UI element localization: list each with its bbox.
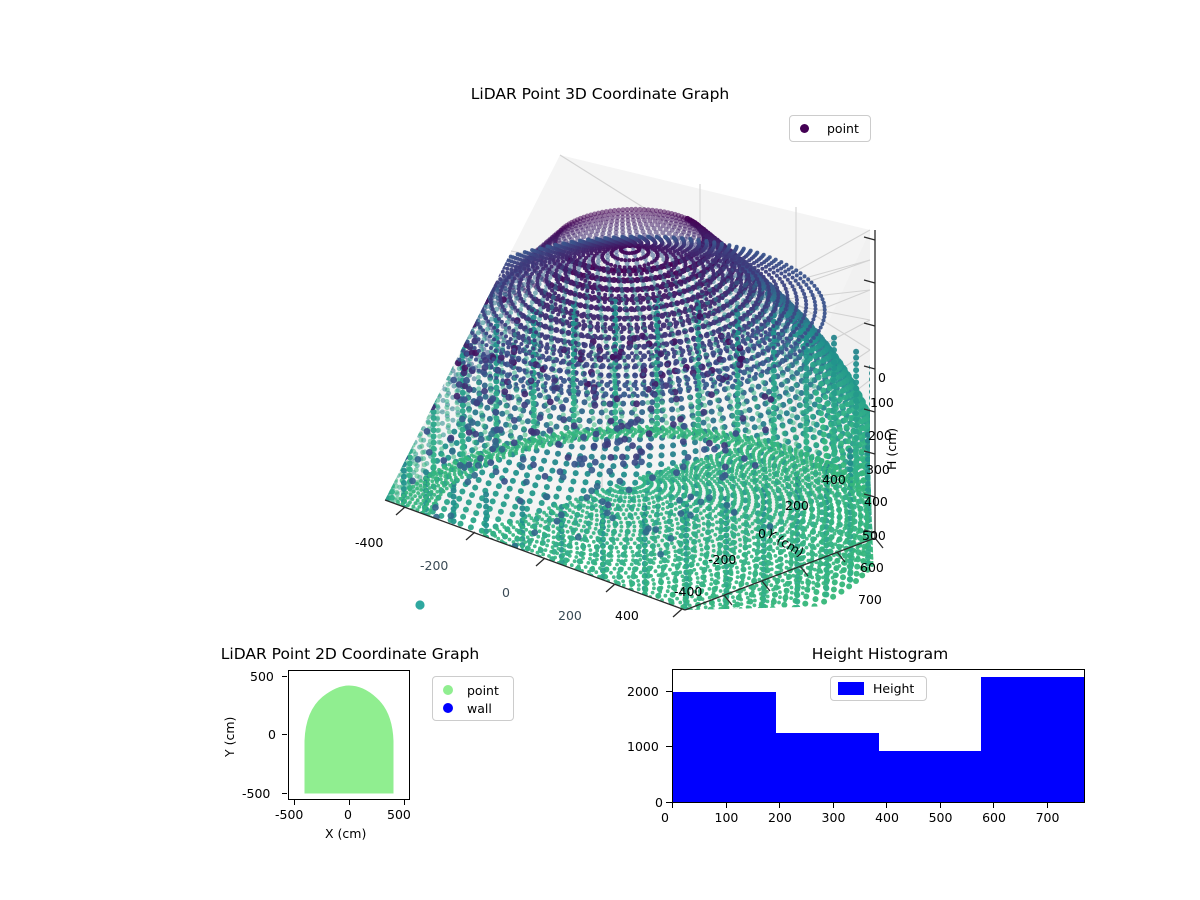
legend-item-point-2d[interactable]: point: [441, 681, 505, 699]
plot2d-ytick-mark-0: [282, 734, 287, 735]
histogram-bar: [673, 692, 776, 802]
hist-xtick-label: 200: [768, 810, 792, 825]
plot3d-ztick-4: 400: [864, 494, 888, 509]
plot3d-xtick-3: 200: [558, 608, 582, 623]
plot3d-xtick-1: -200: [420, 558, 448, 573]
plot2d-ytick-0: 0: [268, 727, 276, 742]
hist-xtick-label: 400: [875, 810, 899, 825]
plot3d-outlier-point: [415, 600, 425, 610]
hist-xtick-mark: [993, 803, 994, 808]
plot3d-zaxis-label: H (cm): [884, 428, 899, 470]
hist-xtick-label: 100: [715, 810, 739, 825]
plot3d-ztick-5: 500: [862, 528, 886, 543]
plot3d-axes[interactable]: 0 100 200 300 400 500 600 700 H (cm) 400…: [330, 140, 950, 640]
plot3d-ytick-3: 200: [785, 498, 809, 513]
hist-xtick-mark: [672, 803, 673, 808]
hist-xtick-mark: [833, 803, 834, 808]
plot2d-ytick-mark-500: [282, 676, 287, 677]
plot2d-xtick-500: 500: [387, 807, 411, 822]
plot2d-axes[interactable]: [288, 670, 410, 800]
plot2d-xtick-mark-0: [349, 800, 350, 805]
legend-label-height: Height: [873, 681, 914, 696]
plot3d-legend[interactable]: point: [789, 115, 871, 142]
hist-xtick-mark: [940, 803, 941, 808]
hist-xtick-label: 500: [929, 810, 953, 825]
histogram-legend[interactable]: Height: [830, 676, 927, 701]
legend-label-point: point: [827, 121, 859, 136]
wall-marker-icon: [443, 703, 453, 713]
plot3d-ytick-4: 400: [822, 472, 846, 487]
point-marker-icon: [800, 124, 809, 133]
point-marker-icon: [443, 685, 453, 695]
plot2d-ytick-mark-m500: [282, 793, 287, 794]
plot2d-legend[interactable]: point wall: [432, 676, 514, 721]
hist-ytick-mark-1000: [666, 746, 672, 747]
plot2d-xtick-mark-m500: [294, 800, 295, 805]
hist-ytick-2000: 2000: [627, 684, 659, 699]
plot2d-xtick-0: 0: [344, 807, 352, 822]
plot2d-xaxis-label: X (cm): [325, 826, 366, 841]
plot2d-ytick-500: 500: [250, 669, 274, 684]
plot3d-ztick-0: 0: [878, 370, 886, 385]
hist-xtick-label: 600: [982, 810, 1006, 825]
hist-xtick-label: 300: [822, 810, 846, 825]
histogram-bar: [776, 733, 879, 802]
plot3d-ztick-6: 600: [860, 560, 884, 575]
plot3d-title: LiDAR Point 3D Coordinate Graph: [0, 85, 1200, 103]
hist-ytick-mark-2000: [666, 691, 672, 692]
plot2d-title: LiDAR Point 2D Coordinate Graph: [205, 645, 495, 663]
hist-xtick-mark: [779, 803, 780, 808]
legend-label-point-2d: point: [467, 683, 499, 698]
plot3d-ytick-1: -200: [708, 552, 736, 567]
hist-ytick-1000: 1000: [627, 739, 659, 754]
hist-xtick-mark: [886, 803, 887, 808]
histogram-title: Height Histogram: [730, 645, 1030, 663]
hist-xtick-mark: [1047, 803, 1048, 808]
legend-item-point[interactable]: point: [798, 120, 862, 137]
plot3d-ytick-0: -400: [674, 584, 702, 599]
hist-xtick-label: 0: [661, 810, 669, 825]
legend-label-wall-2d: wall: [467, 701, 492, 716]
hist-xtick-label: 700: [1036, 810, 1060, 825]
plot2d-xtick-mark-500: [404, 800, 405, 805]
plot2d-ytick-m500: -500: [242, 786, 270, 801]
plot3d-ztick-7: 700: [858, 592, 882, 607]
plot3d-xtick-0: -400: [355, 535, 383, 550]
figure-canvas: LiDAR Point 3D Coordinate Graph: [0, 0, 1200, 900]
plot2d-canvas: [289, 671, 409, 799]
histogram-bar: [879, 751, 982, 802]
legend-item-wall-2d[interactable]: wall: [441, 699, 505, 717]
plot3d-xtick-2: 0: [502, 585, 510, 600]
plot3d-xtick-4: 400: [615, 608, 639, 623]
plot2d-point-cluster: [305, 686, 393, 793]
plot3d-ztick-1: 100: [870, 395, 894, 410]
height-bar-swatch-icon: [838, 682, 864, 695]
histogram-bar: [981, 677, 1084, 802]
plot2d-xtick-m500: -500: [275, 807, 303, 822]
hist-xtick-mark: [726, 803, 727, 808]
plot2d-yaxis-label: Y (cm): [222, 717, 237, 757]
hist-ytick-0: 0: [655, 795, 663, 810]
legend-item-height[interactable]: Height: [838, 680, 919, 697]
